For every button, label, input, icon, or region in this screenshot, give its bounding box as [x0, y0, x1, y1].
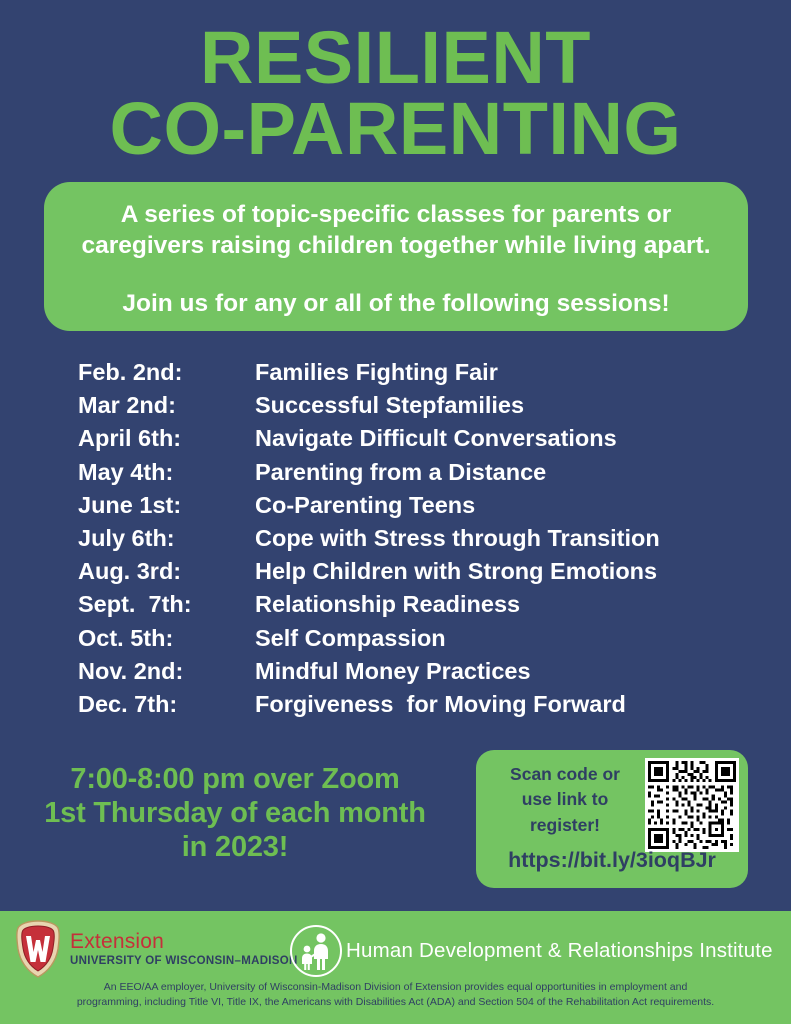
session-topic: Help Children with Strong Emotions	[255, 558, 657, 585]
session-row: April 6th:Navigate Difficult Conversatio…	[78, 425, 738, 458]
session-row: Feb. 2nd:Families Fighting Fair	[78, 359, 738, 392]
registration-caption-line-2: use link to	[484, 787, 646, 812]
disclaimer-line-2: programming, including Title VI, Title I…	[0, 995, 791, 1010]
intro-join-line: Join us for any or all of the following …	[64, 290, 728, 318]
time-info-block: 7:00-8:00 pm over Zoom 1st Thursday of e…	[20, 762, 450, 865]
poster-title: RESILIENT CO-PARENTING	[0, 22, 791, 164]
poster-footer: Extension UNIVERSITY OF WISCONSIN–MADISO…	[0, 911, 791, 1024]
session-date: May 4th:	[78, 459, 255, 486]
session-row: Sept. 7th:Relationship Readiness	[78, 591, 738, 624]
session-topic: Parenting from a Distance	[255, 459, 546, 486]
hdri-label: Human Development & Relationships Instit…	[346, 939, 773, 963]
time-info-line-1: 7:00-8:00 pm over Zoom	[20, 762, 450, 796]
session-date: July 6th:	[78, 525, 255, 552]
session-row: Nov. 2nd:Mindful Money Practices	[78, 658, 738, 691]
session-row: Oct. 5th:Self Compassion	[78, 625, 738, 658]
session-row: Aug. 3rd:Help Children with Strong Emoti…	[78, 558, 738, 591]
uw-extension-wordmark: Extension	[70, 931, 298, 953]
session-date: Dec. 7th:	[78, 691, 255, 718]
session-row: May 4th:Parenting from a Distance	[78, 459, 738, 492]
intro-panel: A series of topic-specific classes for p…	[44, 182, 748, 331]
session-date: April 6th:	[78, 425, 255, 452]
session-topic: Self Compassion	[255, 625, 446, 652]
registration-caption-line-3: register!	[484, 813, 646, 838]
session-topic: Mindful Money Practices	[255, 658, 531, 685]
title-line-1: RESILIENT	[0, 22, 791, 93]
intro-line-2: caregivers raising children together whi…	[64, 231, 728, 262]
session-topic: Successful Stepfamilies	[255, 392, 524, 419]
session-date: Nov. 2nd:	[78, 658, 255, 685]
time-info-line-2: 1st Thursday of each month	[20, 796, 450, 830]
registration-link[interactable]: https://bit.ly/3ioqBJr	[476, 848, 748, 873]
uw-crest-icon	[14, 919, 62, 979]
uw-extension-logo: Extension UNIVERSITY OF WISCONSIN–MADISO…	[14, 919, 298, 979]
session-row: Dec. 7th:Forgiveness for Moving Forward	[78, 691, 738, 724]
adult-and-child-icon	[288, 923, 344, 979]
session-topic: Forgiveness for Moving Forward	[255, 691, 626, 718]
title-line-2: CO-PARENTING	[0, 93, 791, 164]
session-topic: Co-Parenting Teens	[255, 492, 475, 519]
session-date: Mar 2nd:	[78, 392, 255, 419]
legal-disclaimer: An EEO/AA employer, University of Wiscon…	[0, 980, 791, 1010]
qr-code-graphic	[648, 761, 736, 849]
session-date: Feb. 2nd:	[78, 359, 255, 386]
session-topic: Relationship Readiness	[255, 591, 520, 618]
uw-wordmark-block: Extension UNIVERSITY OF WISCONSIN–MADISO…	[70, 931, 298, 967]
session-date: Oct. 5th:	[78, 625, 255, 652]
intro-line-1: A series of topic-specific classes for p…	[64, 200, 728, 231]
session-date: June 1st:	[78, 492, 255, 519]
session-row: July 6th:Cope with Stress through Transi…	[78, 525, 738, 558]
session-topic: Cope with Stress through Transition	[255, 525, 660, 552]
registration-caption-line-1: Scan code or	[484, 762, 646, 787]
session-schedule-list: Feb. 2nd:Families Fighting FairMar 2nd:S…	[78, 359, 738, 724]
session-topic: Navigate Difficult Conversations	[255, 425, 617, 452]
session-date: Sept. 7th:	[78, 591, 255, 618]
registration-panel[interactable]: Scan code or use link to register!	[476, 750, 748, 888]
disclaimer-line-1: An EEO/AA employer, University of Wiscon…	[0, 980, 791, 995]
uw-university-subtitle: UNIVERSITY OF WISCONSIN–MADISON	[70, 955, 298, 967]
time-info-line-3: in 2023!	[20, 830, 450, 864]
session-row: June 1st:Co-Parenting Teens	[78, 492, 738, 525]
session-topic: Families Fighting Fair	[255, 359, 498, 386]
session-date: Aug. 3rd:	[78, 558, 255, 585]
registration-caption: Scan code or use link to register!	[484, 762, 646, 838]
hdri-logo: Human Development & Relationships Instit…	[288, 923, 773, 979]
poster-canvas: RESILIENT CO-PARENTING A series of topic…	[0, 0, 791, 1024]
qr-code-icon[interactable]	[645, 758, 739, 852]
session-row: Mar 2nd:Successful Stepfamilies	[78, 392, 738, 425]
